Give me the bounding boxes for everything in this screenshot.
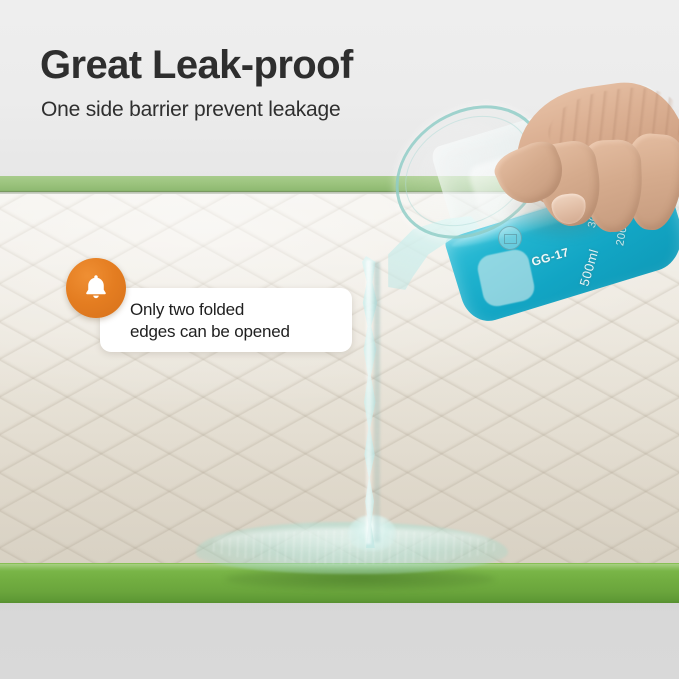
product-feature-image: Great Leak-proof One side barrier preven…	[0, 0, 679, 679]
callout-text: Only two folded edges can be opened	[130, 299, 348, 343]
hand-holding-beaker	[486, 86, 679, 258]
water-stream-shadow	[374, 262, 380, 542]
bell-icon	[80, 272, 112, 304]
floor-background	[0, 598, 679, 679]
water-stream	[352, 256, 392, 548]
page-subtitle: One side barrier prevent leakage	[41, 97, 340, 123]
water-stream-highlight	[366, 260, 371, 544]
callout-badge	[66, 258, 126, 318]
page-title: Great Leak-proof	[40, 44, 353, 86]
